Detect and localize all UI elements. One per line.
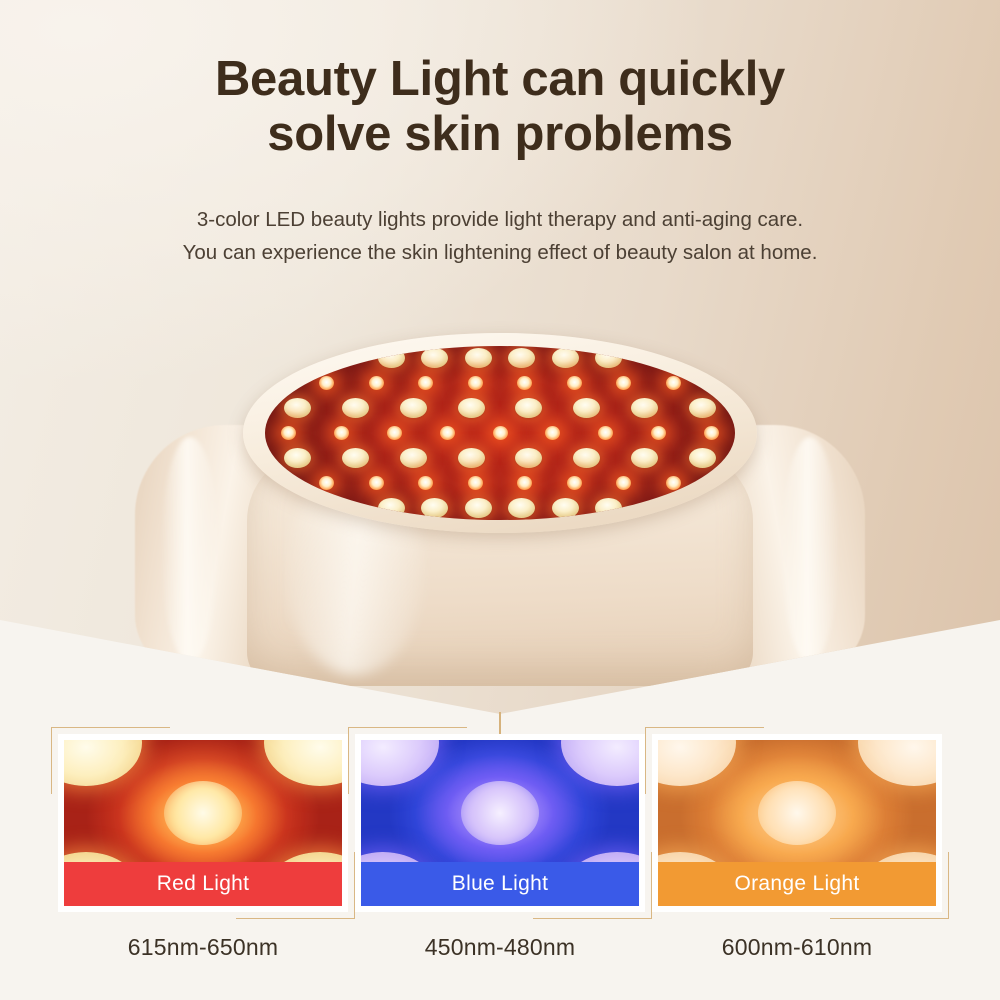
led-dot [517, 376, 532, 390]
light-mode-card-orange[interactable]: Orange Light 600nm-610nm [652, 734, 942, 961]
card-photo: Blue Light [361, 740, 639, 906]
led-dot [573, 448, 600, 468]
card-banner-blue: Blue Light [361, 862, 639, 906]
subtitle-line-1: 3-color LED beauty lights provide light … [0, 203, 1000, 236]
led-dot [465, 348, 492, 368]
led-bulb-top-right [561, 740, 639, 786]
led-bulb-top-right [264, 740, 342, 786]
light-mode-card-blue[interactable]: Blue Light 450nm-480nm [355, 734, 645, 961]
led-dot [369, 476, 384, 490]
led-dot [378, 348, 405, 368]
card-photo: Orange Light [658, 740, 936, 906]
led-dot [666, 376, 681, 390]
led-dot [319, 476, 334, 490]
led-dot [458, 448, 485, 468]
led-dot [508, 498, 535, 518]
led-dot [552, 498, 579, 518]
led-dot [689, 448, 716, 468]
led-dot [616, 476, 631, 490]
subtitle-line-2: You can experience the skin lightening e… [0, 236, 1000, 269]
wavelength-caption-red: 615nm-650nm [58, 934, 348, 961]
led-dot [468, 376, 483, 390]
led-dot [631, 448, 658, 468]
led-dot [631, 398, 658, 418]
led-dot [468, 476, 483, 490]
card-photo: Red Light [64, 740, 342, 906]
led-bulb-top-left [361, 740, 439, 786]
light-modes-section: Red Light 615nm-650nm Blue Light 450nm-4… [0, 734, 1000, 1000]
led-dot [595, 498, 622, 518]
led-dot [595, 348, 622, 368]
led-center-glow [461, 781, 539, 845]
led-dot [400, 398, 427, 418]
led-dot [378, 498, 405, 518]
led-dot [704, 426, 719, 440]
led-center-glow [758, 781, 836, 845]
card-banner-red: Red Light [64, 862, 342, 906]
led-dot [651, 426, 666, 440]
led-panel [265, 346, 735, 520]
led-dot [369, 376, 384, 390]
led-dot [552, 348, 579, 368]
led-dot [421, 348, 448, 368]
product-device-image [135, 333, 865, 673]
led-dot [342, 448, 369, 468]
led-dot [284, 448, 311, 468]
chevron-connector-line [499, 712, 501, 736]
light-mode-card-red[interactable]: Red Light 615nm-650nm [58, 734, 348, 961]
page-title: Beauty Light can quickly solve skin prob… [0, 52, 1000, 162]
led-panel-bezel [243, 333, 757, 533]
led-dot [334, 426, 349, 440]
card-frame: Blue Light [355, 734, 645, 912]
wavelength-caption-blue: 450nm-480nm [355, 934, 645, 961]
headline-line-1: Beauty Light can quickly [215, 52, 785, 106]
led-dot [666, 476, 681, 490]
subtitle: 3-color LED beauty lights provide light … [0, 203, 1000, 269]
led-bulb-top-left [658, 740, 736, 786]
card-frame: Orange Light [652, 734, 942, 912]
led-dot [689, 398, 716, 418]
led-dot [508, 348, 535, 368]
led-dot [515, 398, 542, 418]
led-dot [458, 398, 485, 418]
led-dot [319, 376, 334, 390]
led-dot [284, 398, 311, 418]
led-dot [418, 376, 433, 390]
led-dot [387, 426, 402, 440]
led-dot [493, 426, 508, 440]
led-dot [465, 498, 492, 518]
hero-section: Beauty Light can quickly solve skin prob… [0, 0, 1000, 720]
led-dot [418, 476, 433, 490]
led-dot [616, 376, 631, 390]
led-dot [517, 476, 532, 490]
led-dot [567, 476, 582, 490]
led-dot [515, 448, 542, 468]
led-bulb-top-right [858, 740, 936, 786]
led-dot [545, 426, 560, 440]
led-dot [440, 426, 455, 440]
led-dot [281, 426, 296, 440]
wavelength-caption-orange: 600nm-610nm [652, 934, 942, 961]
led-dot [400, 448, 427, 468]
led-dot [567, 376, 582, 390]
led-center-glow [164, 781, 242, 845]
card-banner-orange: Orange Light [658, 862, 936, 906]
led-dot [421, 498, 448, 518]
card-frame: Red Light [58, 734, 348, 912]
led-bulb-top-left [64, 740, 142, 786]
led-dot [573, 398, 600, 418]
led-dot [342, 398, 369, 418]
led-dot [598, 426, 613, 440]
headline-line-2: solve skin problems [0, 107, 1000, 162]
